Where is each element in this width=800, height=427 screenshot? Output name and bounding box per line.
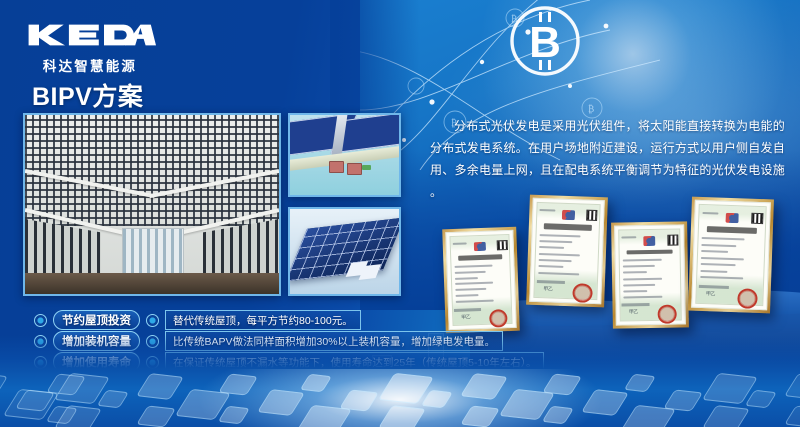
certificate-serial-line: [621, 236, 636, 238]
detail-render-mounting: [288, 113, 401, 197]
certificate-document: 甲乙: [691, 200, 771, 311]
certificate-text-line: [623, 290, 647, 292]
poster-canvas: ₿₿ ₿ B 科达智慧能源 BIPV方案: [0, 0, 800, 427]
brand-logo: 科达智慧能源: [26, 22, 154, 75]
certificate-qr-icon: [497, 240, 508, 251]
certificate-issuer-line: [622, 303, 649, 306]
atrium-illustration: [25, 115, 279, 294]
band-diamond: [0, 374, 8, 392]
certificate-frame: 甲乙: [526, 195, 608, 308]
band-diamond: [97, 390, 129, 408]
certificate-document: 甲乙: [445, 230, 516, 330]
band-diamond: [136, 405, 176, 427]
bullet-dot-icon: [34, 314, 47, 327]
main-photo-atrium: [23, 113, 281, 296]
certificate-frame: 甲乙: [688, 197, 774, 314]
keda-logotype-icon: [26, 22, 156, 48]
certificate-red-seal-icon: [657, 305, 676, 324]
band-diamond: [624, 374, 656, 392]
certificate-qr-icon: [667, 234, 678, 245]
band-diamond: [136, 373, 184, 400]
certificate-emblem-icon: [474, 241, 486, 251]
certificate-emblem-icon: [643, 236, 655, 246]
certificate-qr-icon: [586, 210, 597, 222]
intro-paragraph: 分布式光伏发电是采用光伏组件，将太阳能直接转换为电能的分布式发电系统。在用户场地…: [430, 115, 785, 203]
bitcoin-icon: B: [508, 4, 582, 78]
array-illustration: [290, 209, 399, 294]
page-title: BIPV方案: [32, 77, 143, 113]
certificate-emblem-icon: [562, 210, 575, 221]
band-diamond: [784, 405, 800, 427]
atrium-end-window: [122, 228, 185, 277]
band-diamond: [663, 389, 703, 412]
band-diamond: [784, 373, 800, 400]
certificate-emblem-icon: [725, 212, 739, 223]
svg-text:₿: ₿: [588, 104, 594, 114]
certificate-red-seal-icon: [489, 309, 508, 328]
array-render-panels: [288, 207, 401, 296]
certificate-red-seal-icon: [572, 283, 592, 303]
bottom-decor-band: [0, 369, 800, 427]
certificate-signature: 甲乙: [543, 285, 552, 292]
atrium-floor: [25, 273, 279, 294]
feature-tag-0: 节约屋顶投资: [53, 310, 140, 330]
certificate-frame: 甲乙: [442, 227, 520, 334]
certificate-document: 甲乙: [529, 198, 605, 304]
certificate-signature: 甲乙: [706, 290, 715, 297]
feature-row-0: 节约屋顶投资 替代传统屋顶，每平方节约80-100元。: [34, 310, 361, 330]
panel-clip: [347, 163, 362, 175]
certificate-document: 甲乙: [614, 224, 686, 325]
svg-text:B: B: [529, 18, 561, 67]
sealing-strip: [362, 165, 371, 171]
band-diamond: [745, 390, 777, 408]
certificate-signature: 甲乙: [629, 309, 638, 316]
band-diamond: [702, 405, 750, 427]
panel-clip: [329, 161, 344, 173]
certificate-frame: 甲乙: [611, 221, 689, 328]
certificate-qr-icon: [752, 212, 764, 224]
lattice-skylight-roof: [25, 115, 279, 226]
mounting-illustration: [290, 115, 399, 195]
certificate-signature: 甲乙: [461, 313, 470, 320]
feature-desc-0: 替代传统屋顶，每平方节约80-100元。: [165, 310, 361, 330]
brand-name-cn: 科达智慧能源: [26, 55, 154, 75]
solar-array-plate: [288, 217, 401, 280]
bullet-dot-icon: [146, 314, 159, 327]
band-fade: [0, 335, 800, 369]
